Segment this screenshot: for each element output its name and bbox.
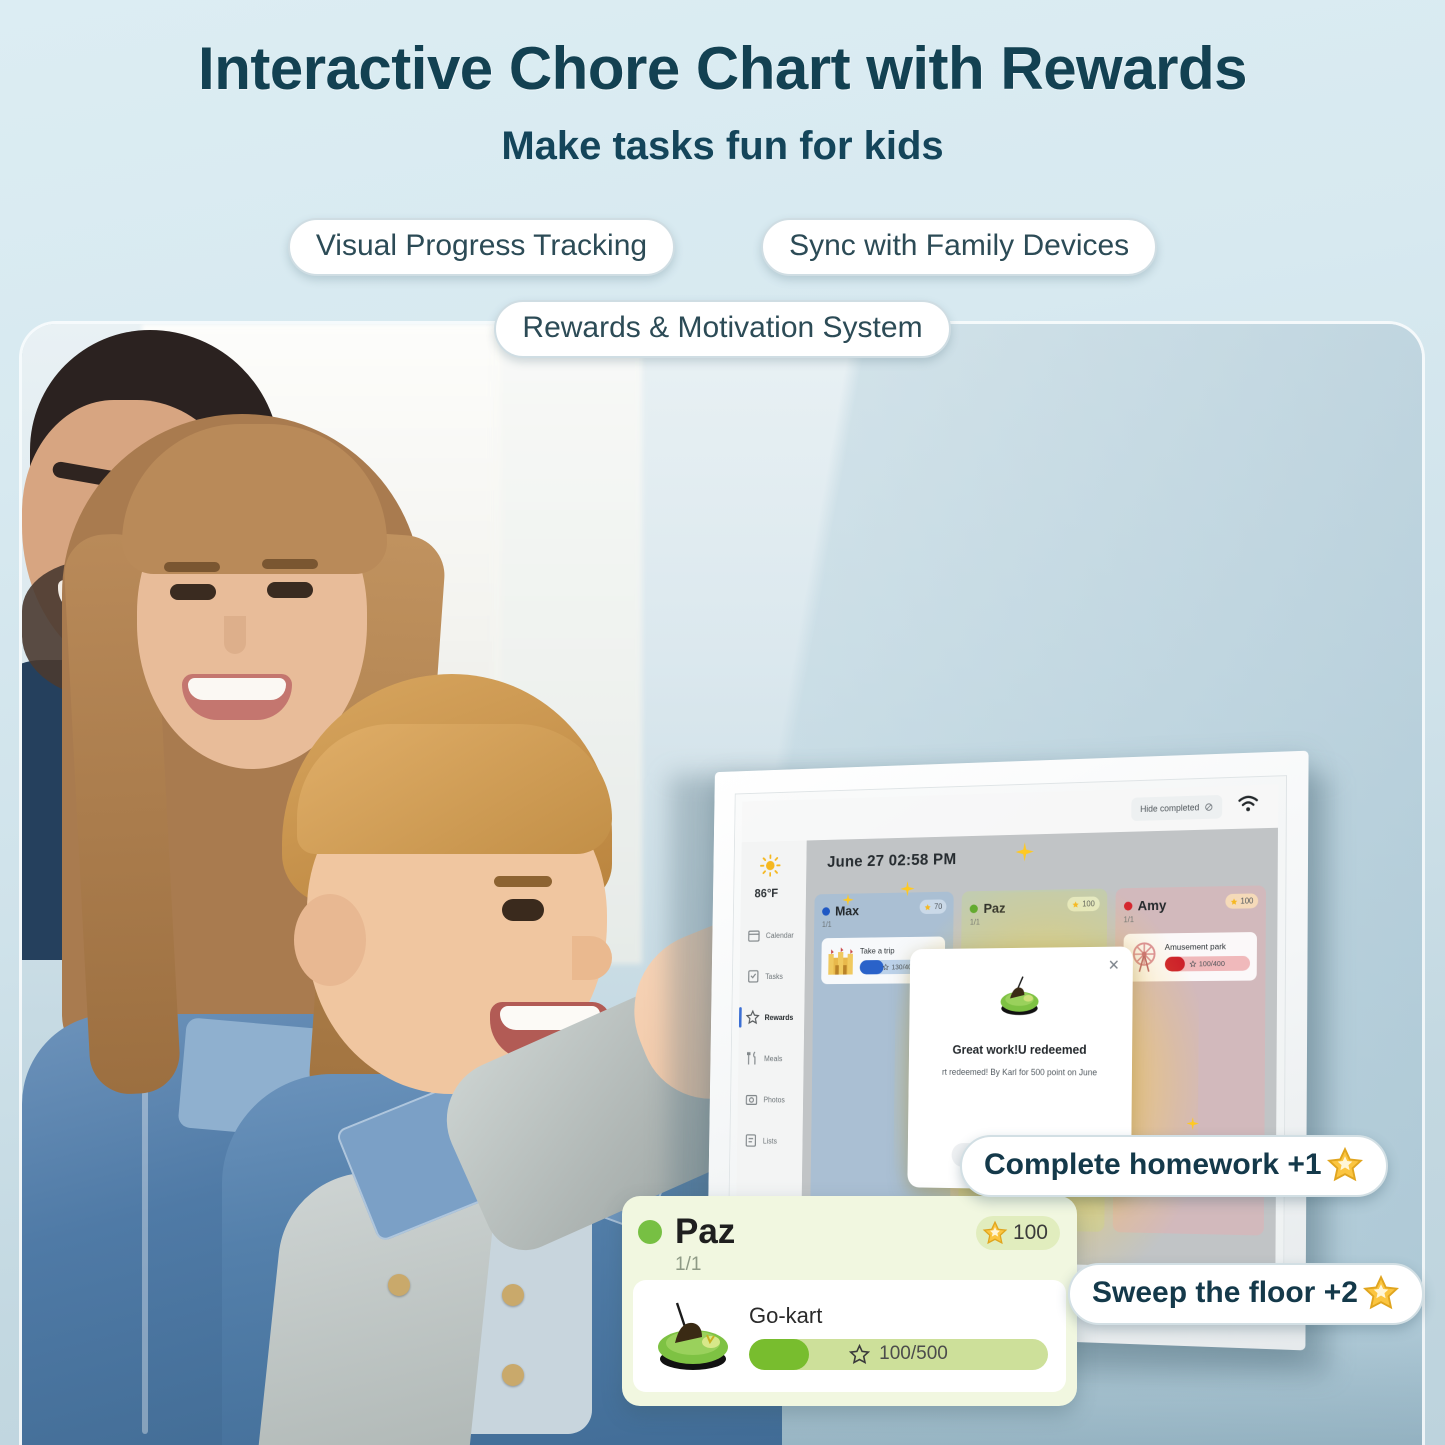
mother-eyebrow-left: [164, 562, 220, 572]
sidebar-label: Calendar: [766, 931, 794, 940]
star-icon: [1362, 1274, 1400, 1312]
page-subtitle: Make tasks fun for kids: [0, 124, 1445, 169]
points-badge: 100: [1225, 893, 1258, 908]
kid-name: Amy: [1138, 897, 1167, 913]
mother-eye-left: [170, 584, 216, 600]
hide-completed-label: Hide completed: [1140, 802, 1199, 814]
go-kart-icon: [651, 1299, 735, 1373]
feature-pill-row-1: Visual Progress Tracking Sync with Famil…: [0, 218, 1445, 276]
calendar-icon: [747, 928, 761, 943]
paz-reward-title: Go-kart: [749, 1303, 1048, 1329]
kid-name: Max: [835, 903, 859, 918]
sidebar-item-photos[interactable]: Photos: [744, 1085, 805, 1113]
page-title: Interactive Chore Chart with Rewards: [0, 34, 1445, 103]
paz-reward-card[interactable]: 100 Paz 1/1 Go-kart 100/500: [622, 1196, 1077, 1406]
reward-details: Amusement park 100/400: [1165, 941, 1251, 972]
star-icon: [982, 1220, 1008, 1246]
reward-progress-text: 100/400: [1199, 959, 1225, 968]
paz-points-badge: 100: [976, 1216, 1060, 1250]
close-icon[interactable]: ✕: [1108, 956, 1120, 974]
go-kart-icon: [996, 973, 1044, 1018]
ferris-wheel-icon: [1130, 940, 1159, 974]
paz-name: Paz: [675, 1212, 735, 1252]
star-icon: [924, 903, 931, 911]
points-badge: 100: [1067, 896, 1099, 911]
castle-icon: [827, 944, 854, 976]
star-icon: [1072, 900, 1079, 908]
kid-color-dot: [970, 904, 978, 913]
callout-sweep-floor: Sweep the floor +2: [1068, 1263, 1424, 1325]
date-time-display: June 27 02:58 PM: [827, 850, 956, 872]
feature-pill-visual-progress: Visual Progress Tracking: [288, 218, 675, 276]
child-ear: [294, 894, 366, 986]
kid-task-fraction: 1/1: [970, 916, 1099, 927]
feature-pill-row-2: Rewards & Motivation System: [0, 300, 1445, 358]
paz-progress-label: 100/500: [749, 1339, 1048, 1370]
sidebar-label: Lists: [763, 1136, 777, 1145]
kid-name: Paz: [983, 900, 1005, 916]
paz-task-fraction: 1/1: [675, 1254, 1061, 1276]
points-value: 100: [1240, 896, 1253, 905]
mother-eye-right: [267, 582, 313, 598]
star-outline-icon: [883, 964, 889, 971]
temperature-readout: 86°F: [754, 886, 778, 900]
sidebar-item-meals[interactable]: Meals: [745, 1044, 806, 1072]
points-value: 70: [934, 902, 942, 911]
reward-progress-label: 100/400: [1165, 956, 1251, 972]
points-badge: 70: [920, 899, 947, 914]
paz-reward-row[interactable]: Go-kart 100/500: [633, 1280, 1066, 1392]
sidebar-item-lists[interactable]: Lists: [744, 1126, 805, 1155]
paz-reward-details: Go-kart 100/500: [749, 1303, 1048, 1370]
star-outline-icon: [849, 1344, 870, 1365]
callout-text: Complete homework +1: [984, 1148, 1322, 1182]
sidebar-item-calendar[interactable]: Calendar: [747, 921, 807, 950]
star-outline-icon: [746, 1010, 760, 1025]
jacket-button: [502, 1284, 524, 1306]
feature-pill-sync-devices: Sync with Family Devices: [761, 218, 1157, 276]
jacket-pocket-button: [388, 1274, 410, 1296]
shirt-seam: [142, 1054, 148, 1434]
reward-title: Amusement park: [1165, 941, 1250, 952]
star-outline-icon: [1189, 960, 1196, 967]
paz-progress-text: 100/500: [879, 1343, 948, 1365]
sidebar-item-tasks[interactable]: Tasks: [746, 962, 806, 991]
reward-card[interactable]: Amusement park 100/400: [1123, 932, 1257, 982]
sidebar-label: Photos: [763, 1095, 785, 1104]
paz-points-value: 100: [1013, 1221, 1048, 1245]
photos-icon: [745, 1092, 759, 1107]
kid-task-fraction: 1/1: [1123, 913, 1257, 924]
jacket-button: [502, 1364, 524, 1386]
points-value: 100: [1082, 899, 1094, 908]
callout-text: Sweep the floor +2: [1092, 1276, 1358, 1310]
kid-color-dot: [1124, 901, 1133, 910]
modal-subtitle: rt redeemed! By Karl for 500 point on Ju…: [909, 1067, 1132, 1077]
star-icon: [1326, 1146, 1364, 1184]
sidebar-label: Meals: [764, 1054, 782, 1062]
sidebar-label: Rewards: [765, 1013, 794, 1022]
meals-icon: [745, 1051, 759, 1066]
paz-color-dot: [638, 1220, 662, 1244]
kid-color-dot: [822, 907, 830, 916]
sparkle-icon: [1015, 842, 1033, 862]
modal-title: Great work!U redeemed: [909, 1042, 1132, 1057]
star-icon: [1230, 897, 1238, 905]
wifi-icon: [1238, 795, 1259, 813]
sidebar-label: Tasks: [765, 972, 783, 981]
page-header: Interactive Chore Chart with Rewards Mak…: [0, 0, 1445, 320]
mother-eyebrow-right: [262, 559, 318, 569]
reward-progress-bar: 100/400: [1165, 956, 1251, 972]
kid-task-fraction: 1/1: [822, 918, 946, 928]
eye-off-icon: [1204, 802, 1214, 812]
lists-icon: [744, 1133, 758, 1148]
callout-complete-homework: Complete homework +1: [960, 1135, 1388, 1197]
tasks-icon: [746, 969, 760, 984]
paz-progress-bar: 100/500: [749, 1339, 1048, 1370]
feature-pill-rewards-system: Rewards & Motivation System: [494, 300, 950, 358]
hide-completed-toggle[interactable]: Hide completed: [1132, 795, 1223, 821]
screen-sidebar: 86°F Calendar: [735, 840, 806, 1257]
sidebar-item-rewards[interactable]: Rewards: [746, 1003, 807, 1031]
sun-icon: [760, 854, 781, 877]
